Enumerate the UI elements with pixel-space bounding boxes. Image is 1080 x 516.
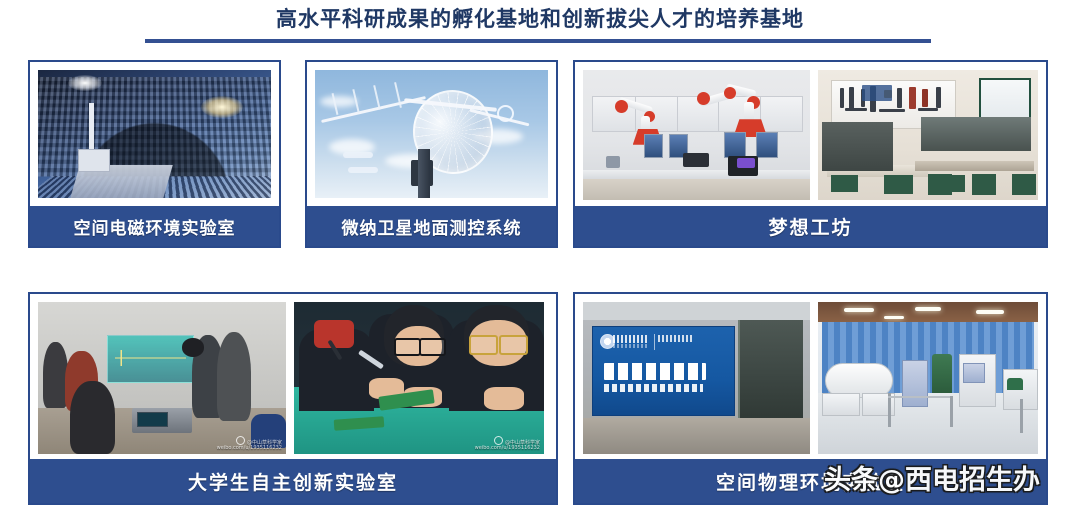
classroom-scene: @中山草科学家 weibo.com/u/1935116232 — [38, 302, 286, 454]
eyeglasses — [394, 338, 421, 356]
control-cabinet — [902, 360, 928, 408]
eyeglasses — [499, 335, 528, 354]
green-tank — [932, 354, 952, 394]
cloud — [320, 96, 358, 107]
ceiling-light-icon — [884, 316, 904, 319]
panel-caption: 大学生自主创新实验室 — [30, 459, 556, 503]
perforated-partition — [822, 122, 892, 171]
soldering-scene: @中山草科学家 weibo.com/u/1935116232 — [294, 302, 544, 454]
glass-entrance-door — [738, 320, 804, 420]
person — [70, 381, 115, 454]
title-divider — [145, 39, 931, 43]
equipment — [606, 156, 620, 168]
ceiling-light-icon — [915, 307, 941, 311]
backpack — [251, 414, 286, 447]
bench-stool — [972, 174, 996, 195]
panel-student-innovation-lab[interactable]: @中山草科学家 weibo.com/u/1935116232 — [28, 292, 558, 505]
anechoic-chamber-scene — [38, 70, 271, 198]
image-oscilloscope-demo: @中山草科学家 weibo.com/u/1935116232 — [38, 302, 286, 454]
signboard-title-en — [604, 384, 703, 392]
printer-uv-glow — [737, 158, 755, 168]
monitor — [724, 132, 746, 158]
bench-stool — [1012, 174, 1036, 195]
long-bench — [915, 161, 1034, 171]
barrier-rope — [888, 396, 950, 398]
image-soldering: @中山草科学家 weibo.com/u/1935116232 — [294, 302, 544, 454]
monitor — [756, 132, 778, 158]
panel-caption: 空间物理环境实验室 — [575, 459, 1046, 503]
person — [43, 342, 68, 409]
chamber-door-window — [963, 363, 985, 383]
mast-base-box — [78, 149, 110, 171]
feed-loop — [497, 105, 514, 122]
university-name-cn — [613, 335, 650, 343]
simulation-chamber-hall-scene — [818, 302, 1038, 454]
bench-stool — [928, 174, 952, 195]
eyeglasses — [419, 338, 446, 356]
panel-aerospace-physics-lab[interactable]: 空间物理环境实验室 头条@西电招生办 — [573, 292, 1048, 505]
dipole-rod — [343, 152, 373, 158]
bench-stool — [884, 175, 913, 193]
stanchion — [950, 396, 953, 426]
pointing-hand — [182, 338, 204, 356]
striped-sleeve — [314, 320, 354, 347]
maker-lab-scene — [583, 70, 810, 200]
hand — [484, 387, 524, 410]
panel-caption: 空间电磁环境实验室 — [30, 206, 279, 246]
square-wave-trace — [115, 350, 186, 366]
lab-entrance-scene — [583, 302, 810, 454]
absorber-cones-wall — [38, 77, 271, 176]
dipole-rod — [348, 167, 378, 173]
oscilloscope — [132, 408, 192, 432]
stanchion — [1020, 399, 1023, 432]
bench-stool — [831, 175, 857, 192]
image-workshop — [818, 70, 1038, 200]
person-student — [217, 332, 252, 420]
image-maker-lab — [583, 70, 810, 200]
image-chamber-hall — [818, 302, 1038, 454]
image-lab-signboard — [583, 302, 810, 454]
panel-satellite-ground-station[interactable]: 微纳卫星地面测控系统 — [305, 60, 558, 248]
monitor — [644, 134, 663, 158]
image-anechoic-chamber — [38, 70, 271, 198]
panel-dream-workshop[interactable]: 梦想工坊 — [573, 60, 1048, 248]
title-block: 高水平科研成果的孵化基地和创新拔尖人才的培养基地 — [0, 0, 1080, 52]
equipment — [683, 153, 709, 167]
sky-scene — [315, 70, 548, 198]
workshop-scene — [818, 70, 1038, 200]
oscilloscope-screen — [137, 412, 168, 428]
panel-electromagnetic-lab[interactable]: 空间电磁环境实验室 — [28, 60, 281, 248]
eyeglasses — [469, 335, 498, 354]
chamber-panel — [1007, 378, 1022, 390]
ceiling-light-icon — [976, 310, 1004, 314]
support-mast — [418, 149, 430, 198]
paved-ground — [583, 418, 810, 454]
rack-shelf — [921, 117, 1031, 151]
panel-caption: 微纳卫星地面测控系统 — [307, 206, 556, 246]
floor — [583, 179, 810, 200]
projected-waveform — [107, 335, 193, 383]
panel-caption: 梦想工坊 — [575, 206, 1046, 246]
slide-root: 高水平科研成果的孵化基地和创新拔尖人才的培养基地 空间电磁环境实验室 — [0, 0, 1080, 516]
ceiling — [583, 302, 810, 320]
department-name — [658, 335, 695, 342]
signboard-title-cn — [604, 363, 705, 380]
lab-signboard — [592, 326, 735, 416]
university-name-en — [613, 344, 647, 348]
image-satellite-antenna — [315, 70, 548, 198]
divider — [654, 334, 655, 350]
ceiling-light-icon — [844, 308, 874, 312]
chamber-base — [822, 393, 859, 416]
page-title: 高水平科研成果的孵化基地和创新拔尖人才的培养基地 — [0, 3, 1080, 33]
corner-light-icon — [201, 96, 243, 118]
